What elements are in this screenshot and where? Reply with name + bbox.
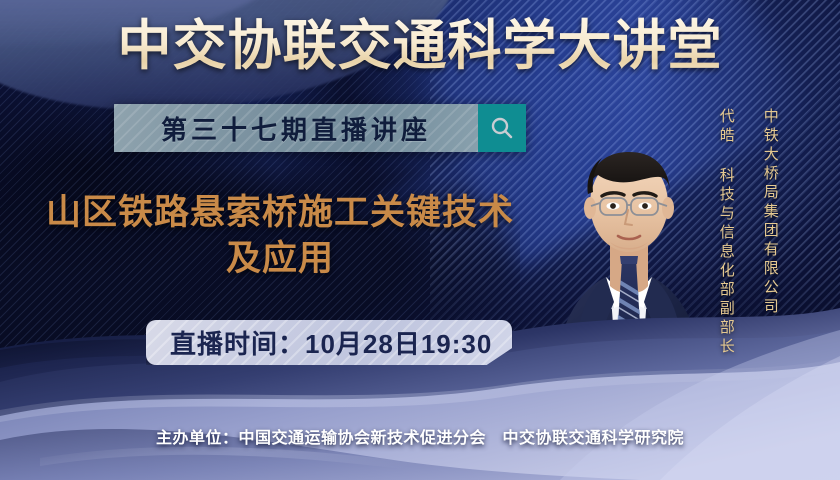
speaker-name-and-role: 代皓 科技与信息化部副部长 — [718, 108, 734, 357]
poster-title: 中交协联交通科学大讲堂 — [0, 16, 840, 76]
organizers-footer: 主办单位：中国交通运输协会新技术促进分会 中交协联交通科学研究院 — [0, 424, 840, 448]
broadcast-time-pill: 直播时间：10月28日19:30 — [146, 320, 512, 365]
series-banner[interactable]: 第三十七期直播讲座 — [114, 104, 526, 152]
lecture-topic-line-1: 山区铁路悬索桥施工关键技术 — [20, 190, 540, 236]
series-banner-body: 第三十七期直播讲座 — [114, 104, 478, 152]
broadcast-time-label: 直播时间：10月28日19:30 — [170, 324, 492, 361]
speaker-organization: 中铁大桥局集团有限公司 — [762, 108, 778, 317]
silk-wave-footer — [0, 290, 840, 480]
lecture-topic-line-2: 及应用 — [20, 236, 540, 282]
series-banner-label: 第三十七期直播讲座 — [161, 110, 431, 147]
search-icon — [488, 114, 516, 142]
lecture-topic: 山区铁路悬索桥施工关键技术 及应用 — [20, 190, 540, 282]
livestream-poster: 中交协联交通科学大讲堂 第三十七期直播讲座 山区铁路悬索桥施工关键技术 及应用 … — [0, 0, 840, 480]
search-icon-box[interactable] — [478, 104, 526, 152]
